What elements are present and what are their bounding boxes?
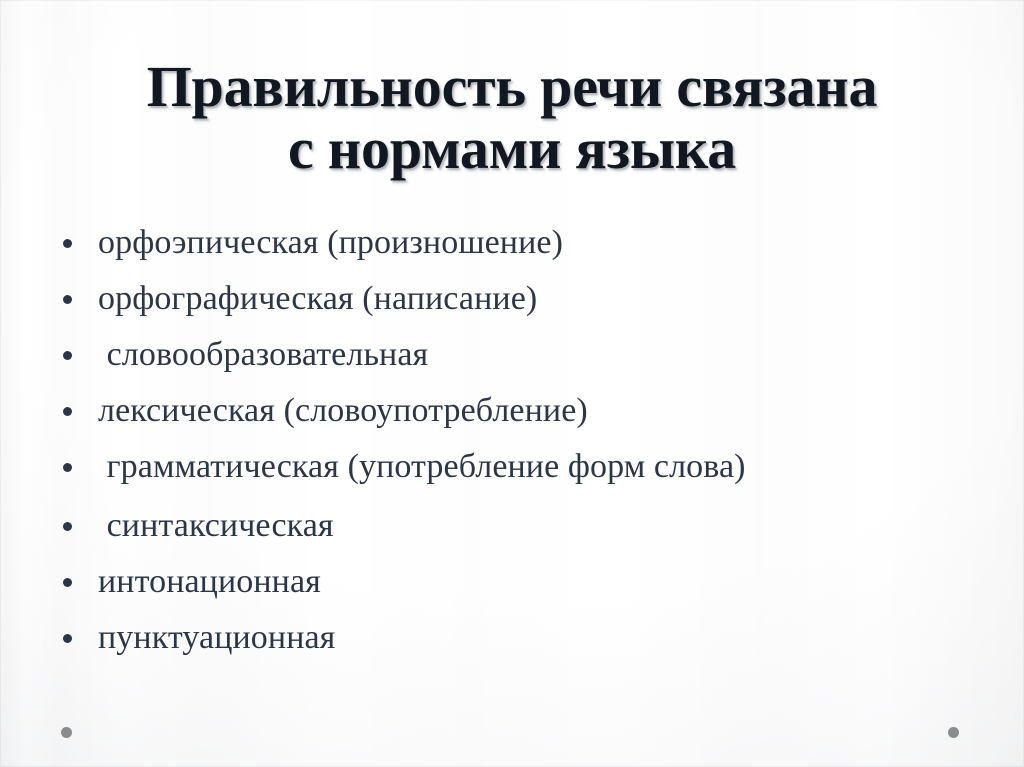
bullet-item-intonacionnaya: интонационная bbox=[54, 561, 894, 602]
norms-bullet-list: орфоэпическая (произношение) орфографиче… bbox=[54, 222, 894, 658]
slide-title: Правильность речи связана с нормами язык… bbox=[62, 56, 962, 180]
footer-dot-left-icon bbox=[61, 727, 72, 738]
bullet-item-orfograficheskaya: орфографическая (написание) bbox=[54, 278, 894, 319]
slide-title-line-2: с нормами языка bbox=[62, 118, 962, 180]
slide-title-line-1: Правильность речи связана bbox=[62, 56, 962, 118]
bullet-item-punktuacionnaya: пунктуационная bbox=[54, 617, 894, 658]
bullet-item-sintaksicheskaya: синтаксическая bbox=[54, 505, 894, 546]
bullet-item-grammaticheskaya: грамматическая (употребление форм слова) bbox=[54, 446, 894, 487]
footer-dot-right-icon bbox=[948, 727, 959, 738]
bullet-item-leksicheskaya: лексическая (словоупотребление) bbox=[54, 390, 894, 431]
presentation-slide: Правильность речи связана с нормами язык… bbox=[0, 0, 1024, 767]
bullet-item-slovoobrazovatelnaya: словообразовательная bbox=[54, 334, 894, 375]
bullet-item-orfoepicheskaya: орфоэпическая (произношение) bbox=[54, 222, 894, 263]
